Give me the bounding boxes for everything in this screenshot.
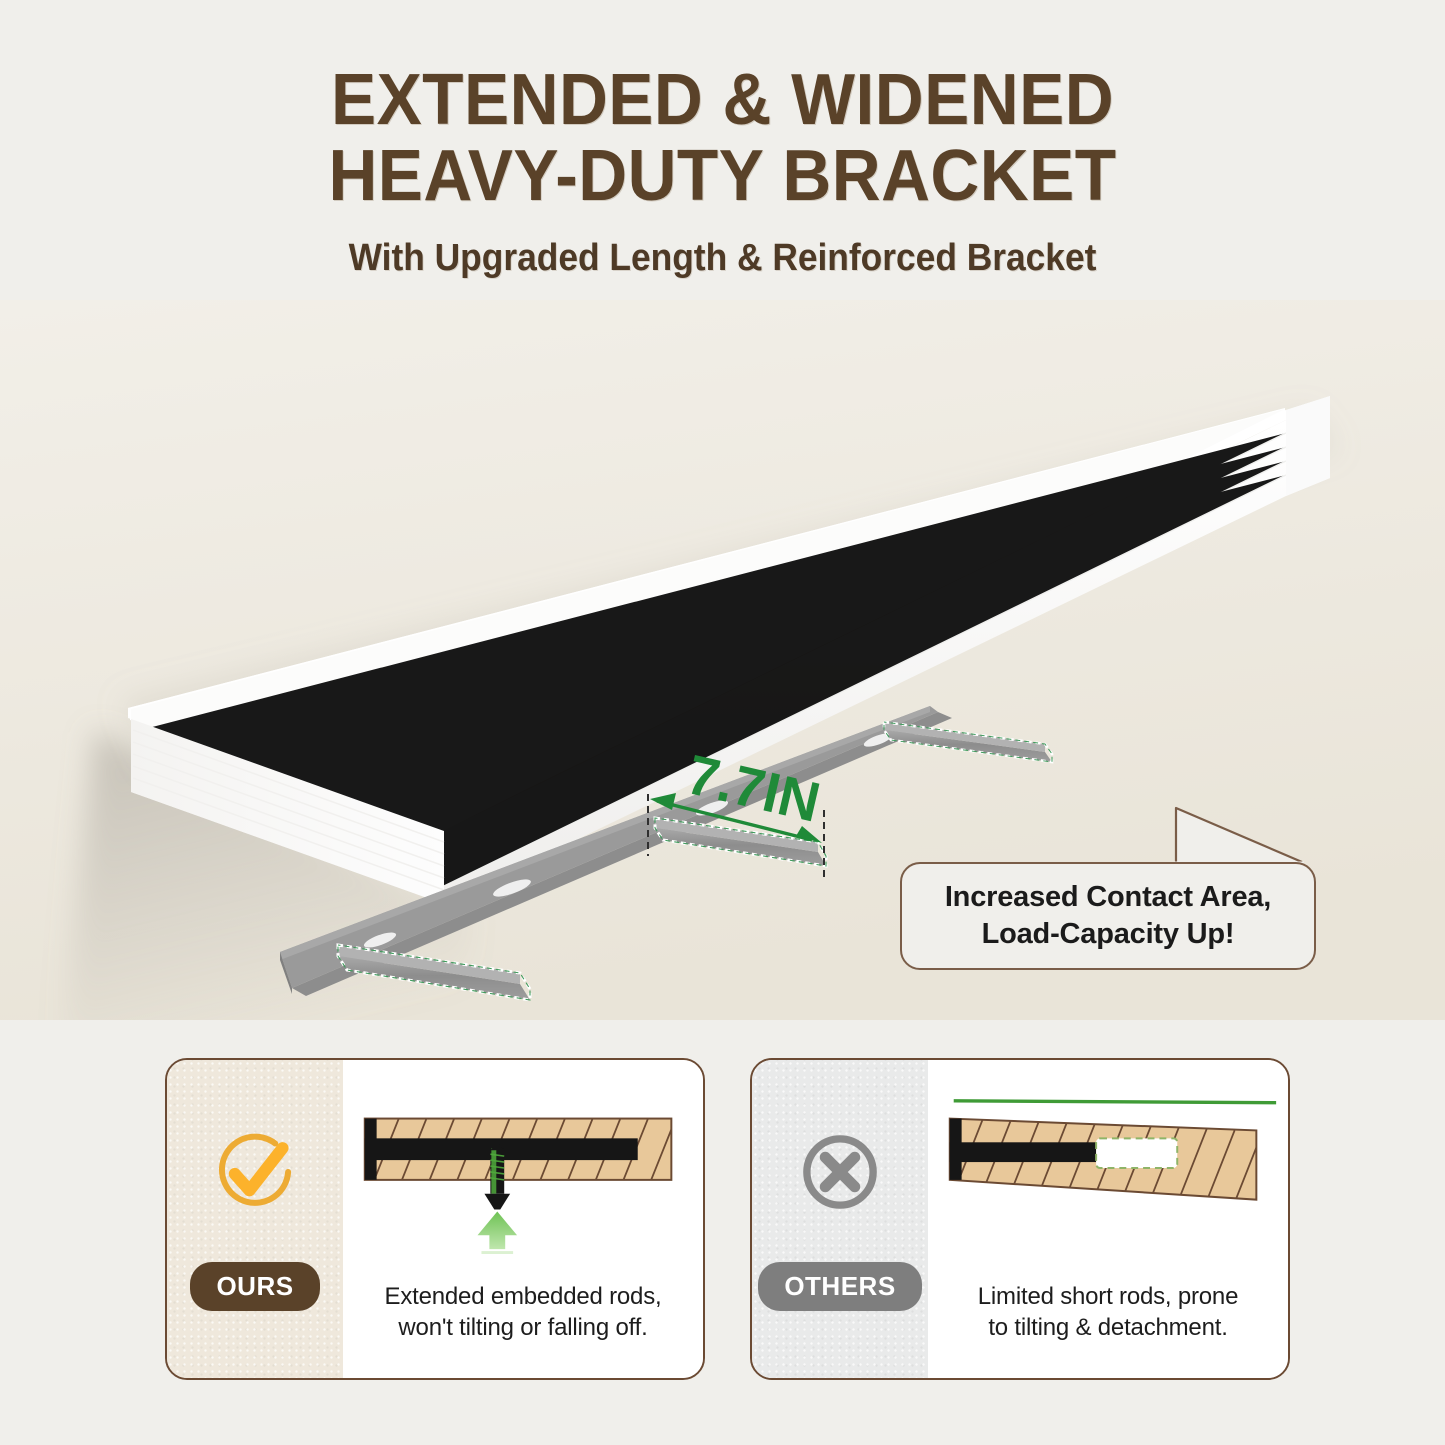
force-arrow-up-icon [478, 1212, 518, 1254]
ours-rod-diagram [343, 1084, 703, 1254]
comparison-card-others: OTHERS [750, 1058, 1290, 1380]
others-diagram-column: Limited short rods, prone to tilting & d… [928, 1060, 1288, 1378]
x-circle-icon [794, 1126, 886, 1218]
callout-line-1: Increased Contact Area, [945, 879, 1271, 916]
ours-badge-column: OURS [167, 1060, 343, 1378]
headline-line-1: EXTENDED & WIDENED [43, 62, 1401, 138]
others-badge-column: OTHERS [752, 1060, 928, 1378]
callout-bubble: Increased Contact Area, Load-Capacity Up… [900, 862, 1318, 972]
callout-text: Increased Contact Area, Load-Capacity Up… [945, 879, 1271, 952]
others-caption-line-2: to tilting & detachment. [928, 1312, 1288, 1344]
infographic-root: EXTENDED & WIDENED HEAVY-DUTY BRACKET Wi… [0, 0, 1445, 1445]
headline-line-2: HEAVY-DUTY BRACKET [43, 138, 1401, 214]
ours-caption-line-2: won't tilting or falling off. [343, 1312, 703, 1344]
check-circle-icon [209, 1126, 301, 1218]
level-reference-line [954, 1101, 1276, 1103]
ours-caption-line-1: Extended embedded rods, [343, 1281, 703, 1313]
others-badge: OTHERS [758, 1262, 921, 1311]
headline-subtitle: With Upgraded Length & Reinforced Bracke… [51, 237, 1395, 280]
others-rod-diagram [928, 1084, 1288, 1254]
others-caption: Limited short rods, prone to tilting & d… [928, 1281, 1288, 1344]
headline-block: EXTENDED & WIDENED HEAVY-DUTY BRACKET Wi… [0, 62, 1445, 280]
ours-caption: Extended embedded rods, won't tilting or… [343, 1281, 703, 1344]
callout-line-2: Load-Capacity Up! [945, 916, 1271, 953]
comparison-card-ours: OURS [165, 1058, 705, 1380]
short-rod [950, 1142, 1096, 1162]
callout-box: Increased Contact Area, Load-Capacity Up… [900, 862, 1316, 970]
ours-diagram-column: Extended embedded rods, won't tilting or… [343, 1060, 703, 1378]
ours-badge: OURS [190, 1262, 319, 1311]
comparison-section: OURS [0, 1058, 1445, 1398]
empty-cavity [1096, 1138, 1177, 1168]
callout-tail-icon [1170, 804, 1310, 866]
others-caption-line-1: Limited short rods, prone [928, 1281, 1288, 1313]
